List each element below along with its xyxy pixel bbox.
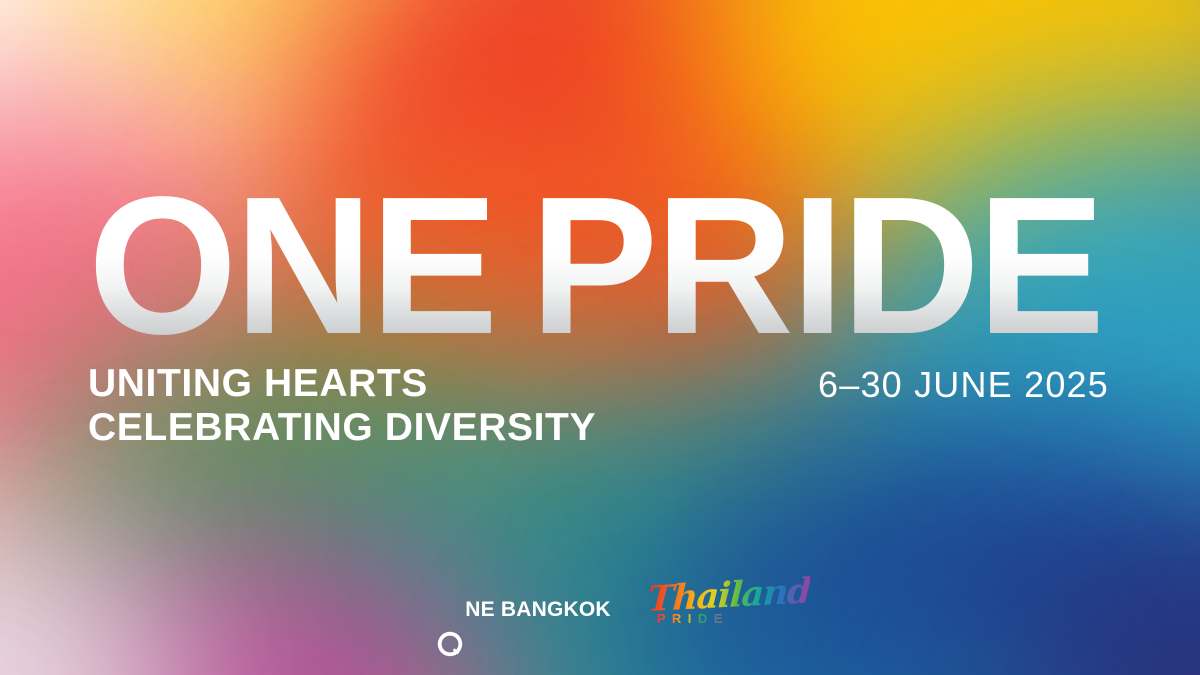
event-dates: 6–30 JUNE 2025 xyxy=(818,364,1109,406)
one-bangkok-wordmark: NE BANGKOK xyxy=(465,599,611,620)
poster-content: ONE PRIDE UNITING HEARTS CELEBRATING DIV… xyxy=(0,0,1200,675)
tagline-line-2: CELEBRATING DIVERSITY xyxy=(88,406,596,450)
page-title: ONE PRIDE xyxy=(88,186,1114,347)
one-bangkok-circle-icon xyxy=(437,595,463,621)
tagline-line-1: UNITING HEARTS xyxy=(88,362,596,406)
tagline: UNITING HEARTS CELEBRATING DIVERSITY xyxy=(88,362,596,450)
headline-word-pride: PRIDE xyxy=(530,186,1102,347)
one-bangkok-logo: NE BANGKOK xyxy=(437,595,611,621)
headline-word-one: ONE xyxy=(88,186,495,347)
pride-campaign-poster: ONE PRIDE UNITING HEARTS CELEBRATING DIV… xyxy=(0,0,1200,675)
thailand-pride-subtitle: PRIDE xyxy=(657,612,729,625)
thailand-pride-logo: Thailand PRIDE xyxy=(647,582,763,634)
logo-row: NE BANGKOK Thailand PRIDE xyxy=(0,582,1200,634)
